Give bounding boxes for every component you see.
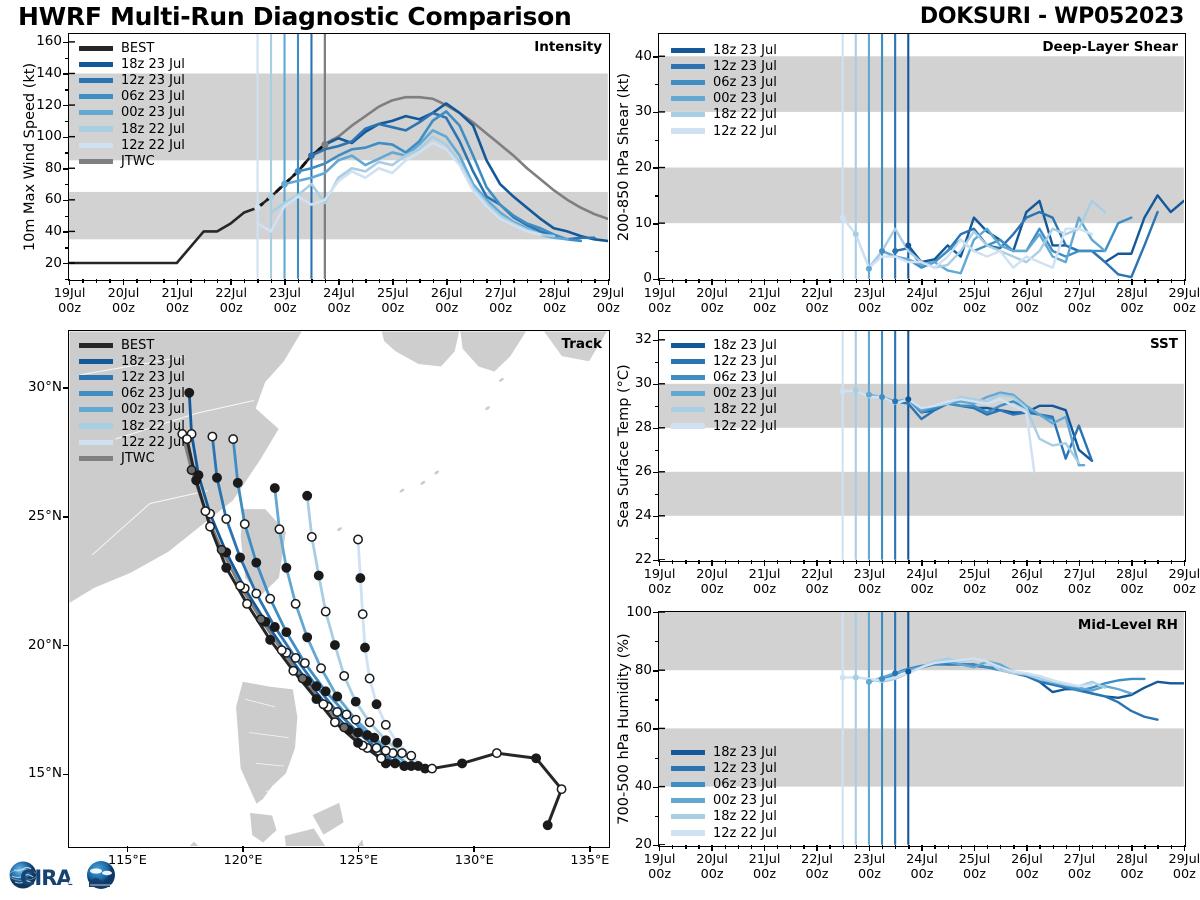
x-tick-hour: 00z [701,301,724,316]
x-minor-tick [419,279,420,283]
x-minor-tick [244,279,245,283]
legend-item[interactable]: 00z 23 Jul [671,386,777,402]
legend-item[interactable]: 18z 23 Jul [671,337,777,353]
x-minor-tick [790,279,791,283]
legend-color-swatch [671,128,705,133]
legend: BEST18z 23 Jul12z 23 Jul06z 23 Jul00z 23… [79,337,185,467]
y-minor-tick [655,670,659,671]
legend-color-swatch [671,343,705,348]
x-minor-tick [460,279,461,283]
svg-text:CIRA: CIRA [20,866,73,890]
track-point-filled [185,389,193,397]
track-point-filled [217,546,225,554]
y-tick-label: 20 [610,836,652,852]
legend-color-swatch [79,391,113,396]
track-point-filled [257,615,265,623]
x-tick-hour: 00z [858,301,881,316]
legend-label: 00z 23 Jul [713,793,777,808]
x-minor-tick [594,279,595,283]
x-tick-date: 28Jul [1116,286,1148,301]
x-tick-hour: 00z [1120,301,1143,316]
x-minor-tick [325,279,326,283]
x-tick-mark [177,279,179,285]
track-point-filled [271,623,279,631]
x-tick-hour: 00z [1120,867,1143,882]
track-point-filled [312,695,320,703]
legend-color-swatch [79,456,113,461]
legend-item[interactable]: 18z 22 Jul [671,809,777,825]
track-point-filled [213,474,221,482]
panel-sst: SST18z 23 Jul12z 23 Jul06z 23 Jul00z 23 … [658,330,1186,562]
legend-color-swatch [79,440,113,445]
legend-label: 18z 23 Jul [713,745,777,760]
x-minor-tick [1039,845,1040,849]
x-minor-tick [856,845,857,849]
x-tick-hour: 00z [963,867,986,882]
legend-item[interactable]: 12z 23 Jul [79,72,185,88]
x-minor-tick [217,279,218,283]
x-tick-mark [1026,279,1028,285]
track-point-filled [252,558,260,566]
x-minor-tick [1039,560,1040,564]
cira-logo: CIRA [6,854,126,896]
x-tick-hour: 00z [963,582,986,597]
y-minor-tick [65,247,69,248]
x-minor-tick [948,845,949,849]
track-point-filled [187,466,195,474]
legend-label: 12z 22 Jul [713,419,777,434]
x-tick-mark [764,279,766,285]
panel-title-rh: Mid-Level RH [1078,617,1178,633]
lat-tick-label: 25°N [10,508,62,524]
x-tick-hour: 00z [166,301,189,316]
x-tick-mark [1131,560,1133,566]
x-minor-tick [365,279,366,283]
x-tick-hour: 00z [381,301,404,316]
y-minor-tick [65,137,69,138]
track-point-open [236,582,244,590]
x-tick-date: 28Jul [539,286,571,301]
legend-item[interactable]: 06z 23 Jul [671,776,777,792]
track-point-filled [333,692,341,700]
x-tick-date: 20Jul [696,852,728,867]
x-tick-hour: 00z [1015,301,1038,316]
x-minor-tick [1066,279,1067,283]
y-minor-tick [655,223,659,224]
legend-item[interactable]: 00z 23 Jul [79,105,185,121]
panel-shear: Deep-Layer Shear18z 23 Jul12z 23 Jul06z … [658,33,1186,281]
track-point-filled [192,476,200,484]
track-point-filled [234,479,242,487]
x-minor-tick [190,279,191,283]
legend-color-swatch [671,375,705,380]
track-point-open [493,749,501,757]
legend-label: 06z 23 Jul [713,777,777,792]
y-minor-tick [655,641,659,642]
x-tick-mark [1026,845,1028,851]
x-tick-date: 24Jul [323,286,355,301]
x-tick-mark [869,560,871,566]
x-tick-date: 23Jul [269,286,301,301]
x-minor-tick [352,279,353,283]
legend-color-swatch [671,112,705,117]
legend-item[interactable]: 00z 23 Jul [671,793,777,809]
x-minor-tick [829,560,830,564]
x-tick-date: 26Jul [1011,286,1043,301]
x-tick-date: 25Jul [377,286,409,301]
x-minor-tick [672,560,673,564]
y-minor-tick [655,140,659,141]
legend-item[interactable]: 18z 23 Jul [671,42,777,58]
legend-color-swatch [671,80,705,85]
legend-label: 12z 22 Jul [713,826,777,841]
lat-tick-label: 20°N [10,637,62,653]
x-minor-tick [1000,845,1001,849]
x-minor-tick [856,279,857,283]
legend-color-swatch [671,96,705,101]
legend-item[interactable]: 18z 22 Jul [79,418,185,434]
legend-item[interactable]: 12z 23 Jul [671,58,777,74]
track-point-filled [382,736,390,744]
x-tick-hour: 00z [220,301,243,316]
track-point-filled [393,739,401,747]
lon-tick-mark [127,846,129,852]
track-point-open [241,520,249,528]
x-tick-hour: 00z [1173,301,1196,316]
x-tick-date: 22Jul [801,852,833,867]
x-tick-date: 23Jul [854,852,886,867]
legend-item[interactable]: 18z 22 Jul [671,107,777,123]
y-minor-tick [65,231,69,232]
x-minor-tick [961,845,962,849]
legend-color-swatch [671,407,705,412]
track-point-filled [352,697,360,705]
legend-item[interactable]: 18z 23 Jul [79,353,185,369]
legend-item[interactable]: 12z 23 Jul [671,353,777,369]
track-point-filled [372,700,380,708]
legend-item[interactable]: 12z 23 Jul [671,760,777,776]
x-tick-hour: 00z [58,301,81,316]
legend-label: 00z 23 Jul [713,91,777,106]
x-tick-hour: 00z [489,301,512,316]
legend-label: 12z 22 Jul [121,435,185,450]
x-tick-date: 25Jul [959,852,991,867]
x-tick-mark [921,845,923,851]
lat-tick-label: 15°N [10,765,62,781]
x-minor-tick [150,279,151,283]
x-tick-mark [446,279,448,285]
x-tick-date: 22Jul [801,286,833,301]
x-tick-date: 19Jul [644,286,676,301]
x-tick-date: 29Jul [593,286,625,301]
x-tick-hour: 00z [858,867,881,882]
legend-item[interactable]: 12z 22 Jul [671,123,777,139]
legend-label: 18z 22 Jul [121,419,185,434]
panel-intensity: IntensityBEST18z 23 Jul12z 23 Jul06z 23 … [68,33,610,281]
x-tick-mark [869,845,871,851]
x-minor-tick [987,560,988,564]
track-point-open [333,708,341,716]
x-tick-date: 27Jul [485,286,517,301]
track-point-filled [271,484,279,492]
x-minor-tick [843,560,844,564]
y-tick-label: 40 [610,48,652,64]
legend-label: 18z 23 Jul [121,57,185,72]
track-point-open [358,610,366,618]
x-tick-hour: 00z [806,301,829,316]
x-minor-tick [1000,279,1001,283]
legend-label: 18z 22 Jul [713,809,777,824]
y-axis-label-intensity: 10m Max Wind Speed (kt) [22,63,38,251]
legend-item[interactable]: 12z 22 Jul [79,137,185,153]
y-tick-label: 32 [610,331,652,347]
y-minor-tick [655,84,659,85]
x-minor-tick [1144,279,1145,283]
track-point-filled [222,564,230,572]
track-point-filled [312,682,320,690]
x-minor-tick [725,560,726,564]
x-tick-date: 26Jul [431,286,463,301]
lon-tick-label: 130°E [434,853,514,868]
y-axis-label-sst: Sea Surface Temp (°C) [616,364,632,527]
y-minor-tick [655,195,659,196]
x-tick-date: 22Jul [801,567,833,582]
track-point-filled [331,641,339,649]
legend-item[interactable]: JTWC [79,153,185,169]
x-tick-date: 29Jul [1169,852,1200,867]
panel-title-intensity: Intensity [534,39,602,55]
track-point-filled [298,674,306,682]
legend: 18z 23 Jul12z 23 Jul06z 23 Jul00z 23 Jul… [671,337,777,434]
x-minor-tick [1171,560,1172,564]
x-tick-mark [1184,279,1186,285]
x-minor-tick [895,845,896,849]
lon-tick-mark [242,846,244,852]
x-minor-tick [96,279,97,283]
x-tick-date: 22Jul [215,286,247,301]
x-tick-hour: 00z [701,582,724,597]
track-point-open [317,664,325,672]
track-point-open [291,654,299,662]
legend-item[interactable]: 18z 22 Jul [79,121,185,137]
legend-item[interactable]: 12z 22 Jul [671,418,777,434]
legend-item[interactable]: BEST [79,40,185,56]
x-minor-tick [685,560,686,564]
x-tick-hour: 00z [327,301,350,316]
legend-item[interactable]: 06z 23 Jul [79,89,185,105]
legend-item[interactable]: 06z 23 Jul [671,369,777,385]
x-minor-tick [934,279,935,283]
y-minor-tick [655,758,659,759]
legend-item[interactable]: 18z 22 Jul [671,402,777,418]
x-tick-mark [711,845,713,851]
legend-label: 12z 22 Jul [121,138,185,153]
y-tick-label: 160 [20,33,62,49]
y-minor-tick [65,73,69,74]
y-minor-tick [655,516,659,517]
x-tick-mark [764,560,766,566]
x-tick-mark [554,279,556,285]
track-point-open [407,752,415,760]
legend-label: 12z 23 Jul [121,73,185,88]
x-tick-mark [921,279,923,285]
legend: BEST18z 23 Jul12z 23 Jul06z 23 Jul00z 23… [79,40,185,170]
x-minor-tick [725,279,726,283]
x-tick-label: 29Jul00z [1150,286,1200,316]
y-minor-tick [65,42,69,43]
x-tick-hour: 00z [1173,867,1196,882]
y-minor-tick [65,58,69,59]
legend-label: 18z 22 Jul [713,107,777,122]
x-tick-mark [1079,279,1081,285]
legend-item[interactable]: 00z 23 Jul [79,402,185,418]
x-tick-mark [764,845,766,851]
y-tick-label: 100 [610,604,652,620]
track-point-open [208,432,216,440]
legend-item[interactable]: 12z 23 Jul [79,369,185,385]
x-tick-date: 25Jul [959,567,991,582]
x-tick-date: 20Jul [696,286,728,301]
x-tick-hour: 00z [806,867,829,882]
legend-item[interactable]: 06z 23 Jul [671,74,777,90]
x-minor-tick [1013,560,1014,564]
panel-track[interactable]: TrackBEST18z 23 Jul12z 23 Jul06z 23 Jul0… [68,330,610,848]
legend-color-swatch [79,423,113,428]
track-point-filled [356,574,364,582]
legend-label: JTWC [121,451,155,466]
legend-color-swatch [79,159,113,164]
x-tick-mark [816,279,818,285]
x-minor-tick [1157,845,1158,849]
track-point-open [301,659,309,667]
x-minor-tick [1066,560,1067,564]
legend-label: 00z 23 Jul [121,402,185,417]
x-minor-tick [1092,845,1093,849]
x-minor-tick [685,845,686,849]
track-point-open [266,594,274,602]
x-tick-mark [711,279,713,285]
x-tick-date: 24Jul [906,567,938,582]
x-minor-tick [1000,560,1001,564]
track-point-open [340,672,348,680]
x-tick-mark [974,845,976,851]
y-minor-tick [655,112,659,113]
storm-id-title: DOKSURI - WP052023 [920,4,1184,29]
y-minor-tick [655,612,659,613]
y-tick-label: 20 [20,255,62,271]
track-point-open [377,754,385,762]
x-tick-date: 23Jul [854,286,886,301]
y-minor-tick [655,362,659,363]
x-minor-tick [1105,560,1106,564]
x-minor-tick [672,279,673,283]
legend-color-swatch [671,814,705,819]
legend-color-swatch [671,750,705,755]
track-point-filled [361,643,369,651]
x-minor-tick [486,279,487,283]
x-minor-tick [843,845,844,849]
legend-label: 18z 23 Jul [713,43,777,58]
x-minor-tick [908,279,909,283]
x-tick-hour: 00z [753,301,776,316]
legend-item[interactable]: 18z 23 Jul [79,56,185,72]
x-tick-date: 29Jul [1169,286,1200,301]
legend-item[interactable]: 00z 23 Jul [671,91,777,107]
legend-label: 12z 23 Jul [121,370,185,385]
x-tick-mark [816,845,818,851]
y-minor-tick [65,105,69,106]
track-point-filled [458,759,466,767]
legend-color-swatch [671,782,705,787]
x-minor-tick [1105,279,1106,283]
legend-color-swatch [79,343,113,348]
legend-color-swatch [79,78,113,83]
x-minor-tick [698,560,699,564]
x-minor-tick [1171,279,1172,283]
x-tick-date: 27Jul [1064,286,1096,301]
legend-color-swatch [671,423,705,428]
x-tick-date: 27Jul [1064,852,1096,867]
legend-color-swatch [79,126,113,131]
legend-color-swatch [671,391,705,396]
lat-tick-mark [63,516,69,518]
legend-item[interactable]: 06z 23 Jul [79,386,185,402]
x-minor-tick [1105,845,1106,849]
x-tick-label: 29Jul00z [1150,852,1200,882]
legend-item[interactable]: 18z 23 Jul [671,744,777,760]
legend-color-swatch [671,64,705,69]
x-minor-tick [948,560,949,564]
x-tick-date: 24Jul [906,286,938,301]
x-minor-tick [513,279,514,283]
track-point-filled [391,759,399,767]
x-tick-mark [69,279,71,285]
x-minor-tick [829,845,830,849]
x-minor-tick [751,845,752,849]
x-tick-mark [1184,560,1186,566]
x-minor-tick [1118,560,1119,564]
lon-tick-mark [473,846,475,852]
legend-item[interactable]: 12z 22 Jul [79,434,185,450]
x-minor-tick [311,279,312,283]
x-tick-mark [1079,560,1081,566]
x-minor-tick [1013,845,1014,849]
track-point-filled [400,762,408,770]
track-point-filled [236,553,244,561]
legend-item[interactable]: JTWC [79,450,185,466]
x-tick-mark [230,279,232,285]
legend-item[interactable]: 12z 22 Jul [671,825,777,841]
track-point-open [372,744,380,752]
track-point-open [382,721,390,729]
x-minor-tick [1118,845,1119,849]
track-point-open [252,589,260,597]
legend-label: 12z 23 Jul [713,761,777,776]
legend-item[interactable]: BEST [79,337,185,353]
track-point-filled [354,739,362,747]
track-point-open [352,715,360,723]
x-tick-hour: 00z [753,867,776,882]
lat-tick-mark [63,774,69,776]
legend-color-swatch [671,48,705,53]
lon-tick-mark [358,846,360,852]
track-point-filled [363,731,371,739]
x-minor-tick [882,560,883,564]
legend-color-swatch [79,375,113,380]
track-point-open [398,749,406,757]
lon-tick-mark [589,846,591,852]
y-minor-tick [65,200,69,201]
